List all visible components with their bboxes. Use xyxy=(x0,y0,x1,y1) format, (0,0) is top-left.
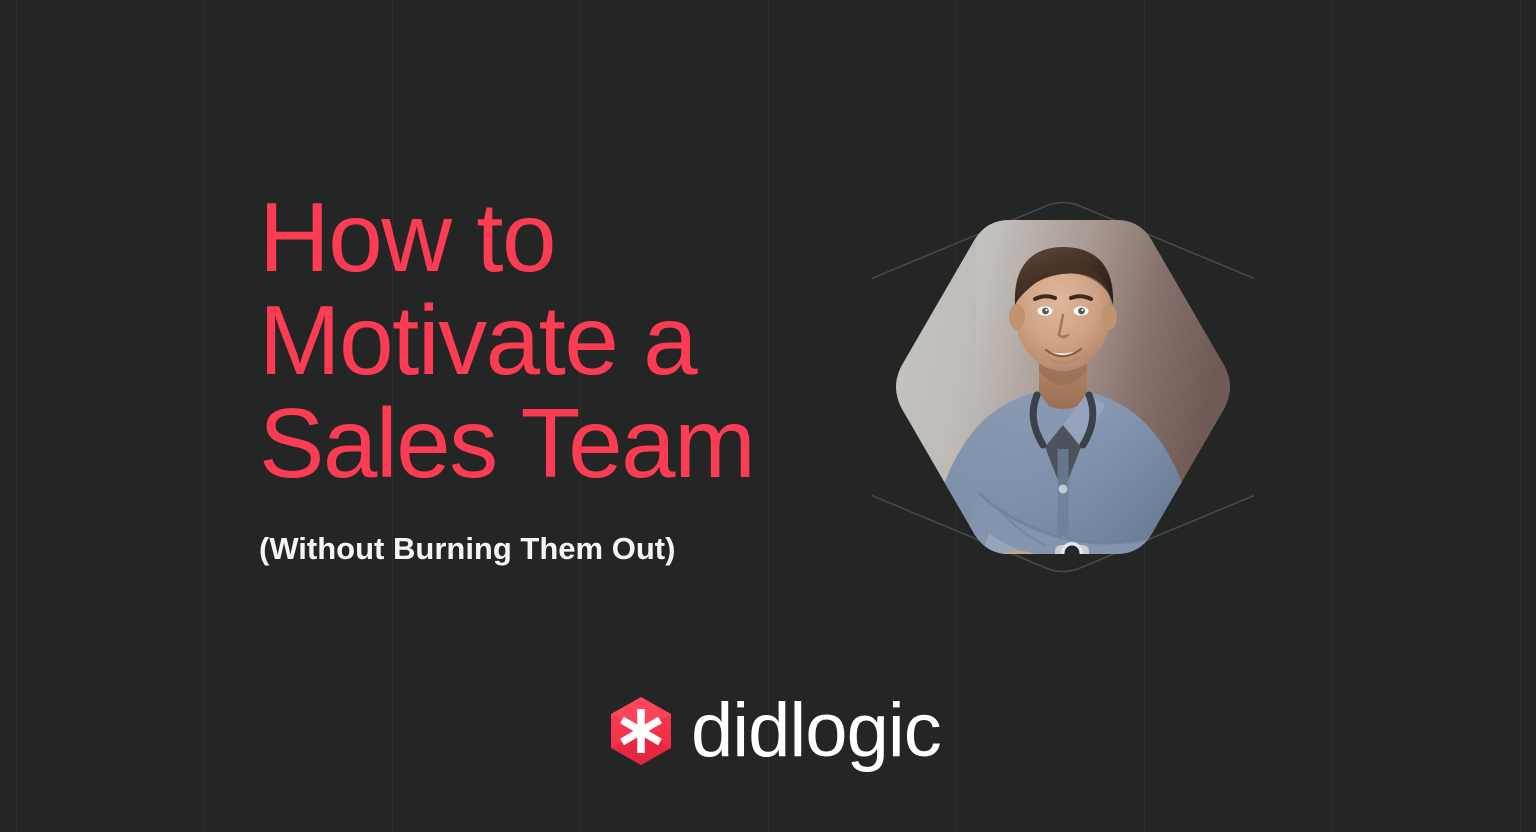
didlogic-hexagon-asterisk-icon xyxy=(609,696,673,766)
grid-line xyxy=(1520,0,1521,832)
grid-line xyxy=(1332,0,1333,832)
headline-line-2: Motivate a xyxy=(259,289,754,392)
headline-line-3: Sales Team xyxy=(259,392,754,495)
headline-line-1: How to xyxy=(259,186,754,289)
headline-block: How to Motivate a Sales Team (Without Bu… xyxy=(259,186,754,567)
brand-wordmark: didlogic xyxy=(691,696,941,766)
portrait-frame xyxy=(872,172,1254,602)
subtitle: (Without Burning Them Out) xyxy=(259,495,754,567)
grid-line xyxy=(16,0,17,832)
promo-card-canvas: How to Motivate a Sales Team (Without Bu… xyxy=(0,0,1536,832)
grid-line xyxy=(204,0,205,832)
portrait-photo xyxy=(893,193,1233,581)
brand-logo: didlogic xyxy=(609,696,941,766)
